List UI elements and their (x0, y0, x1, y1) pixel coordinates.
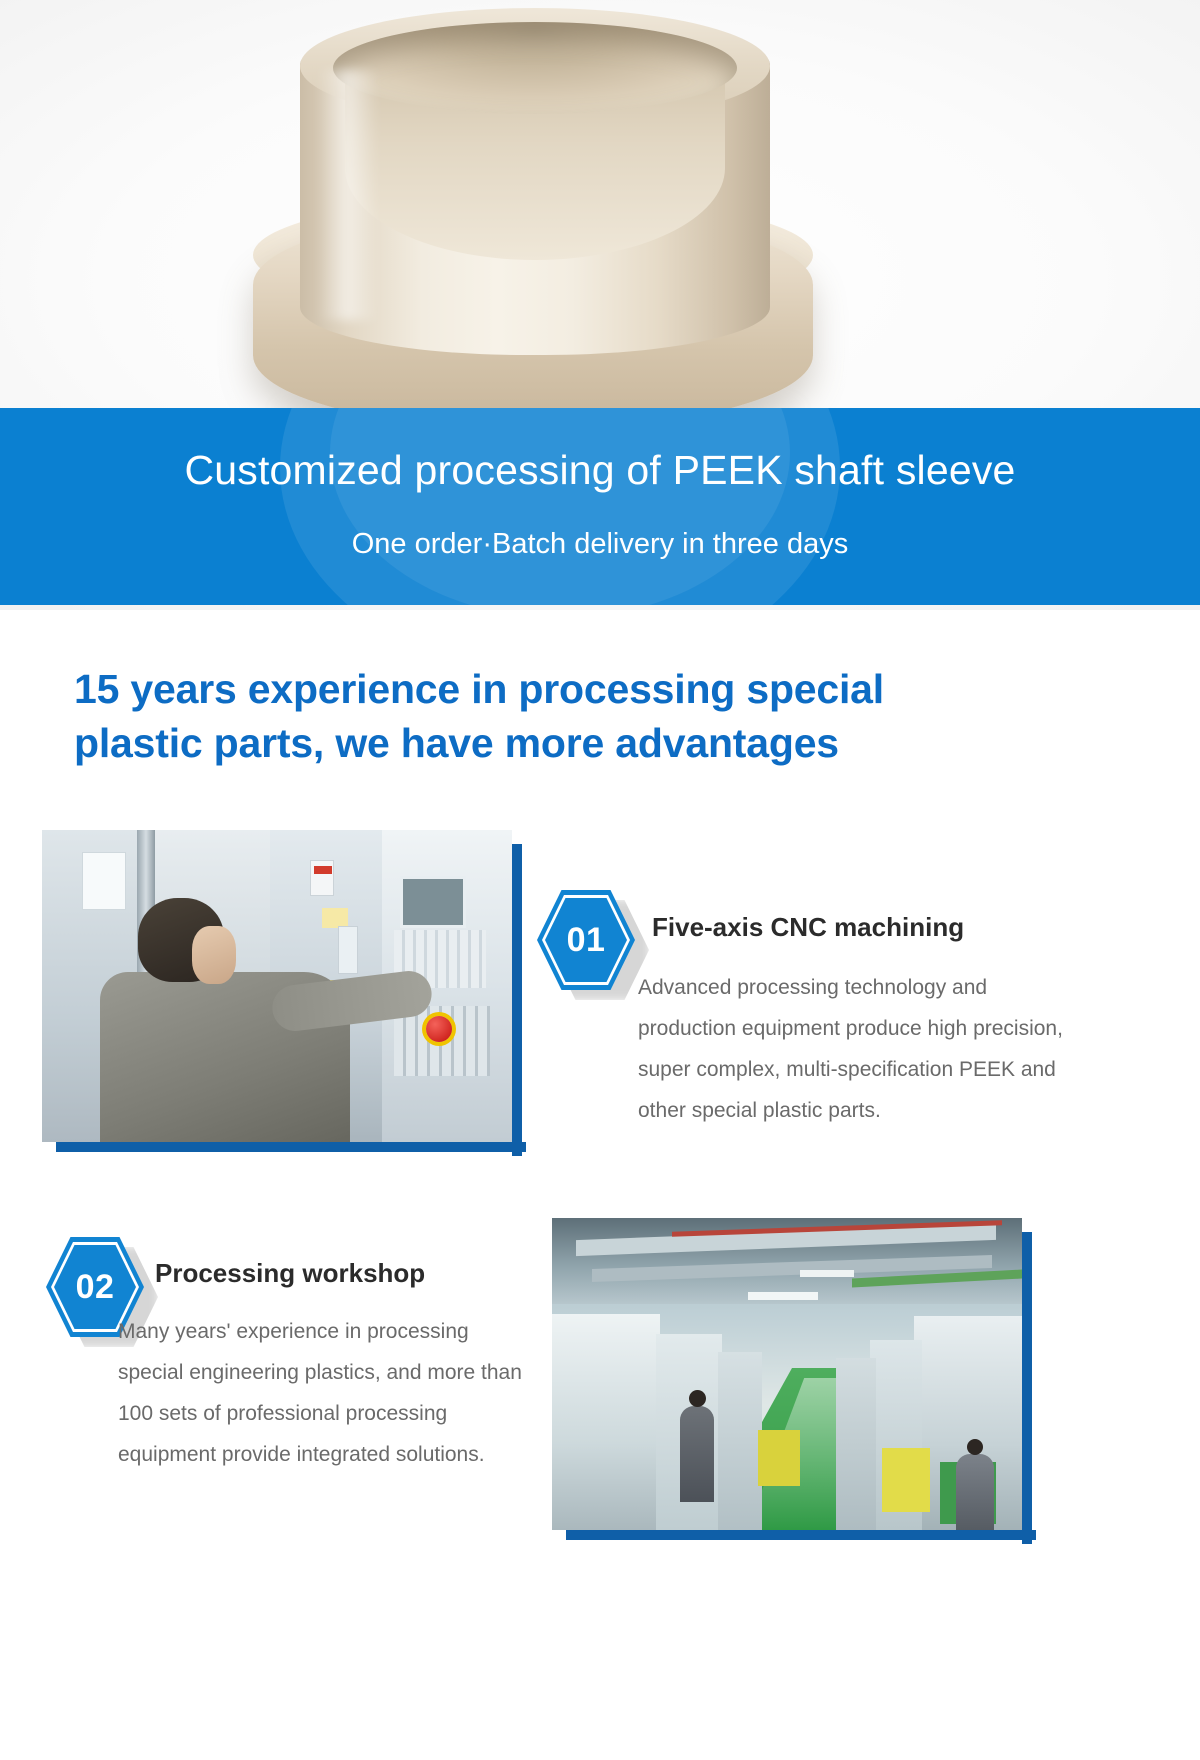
product-highlight (318, 70, 378, 320)
section-heading-line-1: 15 years experience in processing specia… (74, 662, 1084, 716)
photo-accent-bar-bottom (566, 1530, 1036, 1540)
product-bore (333, 22, 737, 114)
feature-01-number: 01 (537, 890, 635, 990)
hero-banner: Customized processing of PEEK shaft slee… (0, 408, 1200, 605)
feature-01-body: Advanced processing technology and produ… (638, 968, 1070, 1132)
banner-title: Customized processing of PEEK shaft slee… (0, 448, 1200, 493)
photo-accent-bar-bottom (56, 1142, 526, 1152)
feature-01-badge: 01 (537, 890, 635, 990)
banner-subtitle: One order·Batch delivery in three days (0, 529, 1200, 561)
photo-accent-bar-right (512, 844, 522, 1156)
feature-02-photo (552, 1218, 1022, 1530)
feature-02-title: Processing workshop (155, 1258, 425, 1289)
feature-01-photo (42, 830, 512, 1142)
feature-02-body: Many years' experience in processing spe… (118, 1312, 522, 1476)
section-heading: 15 years experience in processing specia… (74, 662, 1084, 770)
workshop-image (552, 1218, 1022, 1530)
photo-accent-bar-right (1022, 1232, 1032, 1544)
section-heading-line-2: plastic parts, we have more advantages (74, 716, 1084, 770)
cnc-operator-image (42, 830, 512, 1142)
hexagon-badge-icon: 01 (537, 890, 635, 990)
feature-01-title: Five-axis CNC machining (652, 912, 964, 943)
hero-section: Customized processing of PEEK shaft slee… (0, 0, 1200, 610)
